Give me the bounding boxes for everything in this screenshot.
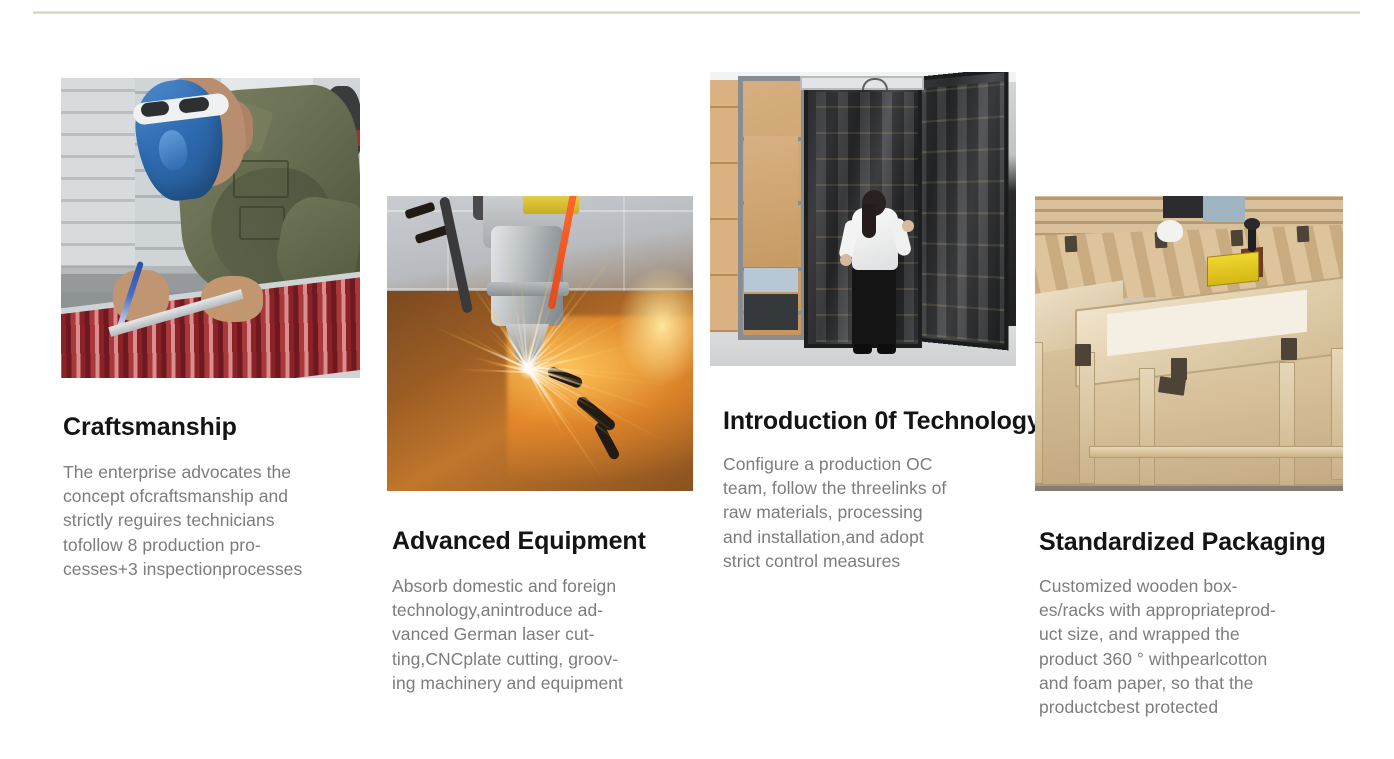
introduction-of-technology-heading: Introduction 0f Technology [723, 409, 1041, 434]
yellow-tool-case [1207, 251, 1259, 286]
worker-ponytail [862, 204, 876, 238]
standardized-packaging-heading: Standardized Packaging [1039, 530, 1326, 555]
worker-shoe-right [877, 344, 896, 354]
craftsmanship-photo [61, 78, 360, 378]
crate-corner-bracket-1 [1075, 344, 1091, 366]
craftsmanship-body-text: The enterprise advocates the concept ofc… [63, 460, 363, 581]
worker-legs [852, 264, 896, 348]
crate-slat-vertical-5 [1035, 342, 1043, 484]
crate-slat-vertical-1 [1079, 352, 1095, 484]
slide-canvas: Craftsmanship The enterprise advocates t… [0, 0, 1394, 759]
crate-bracket-bg-4 [1297, 226, 1310, 243]
top-divider-rule [33, 11, 1360, 14]
crate-corner-bracket-3 [1281, 338, 1297, 360]
advanced-equipment-photo [387, 196, 693, 491]
worker-hand-left [840, 254, 852, 266]
crate-bracket-bg-1 [1065, 236, 1078, 253]
crate-corner-bracket-2 [1171, 358, 1187, 380]
crate-slat-vertical-2 [1139, 368, 1155, 486]
crate-slat-vertical-3 [1279, 362, 1295, 486]
standardized-packaging-photo [1035, 196, 1343, 491]
crate-bracket-bg-3 [1231, 230, 1244, 247]
worker-hand-right [902, 220, 914, 232]
molten-glow-bright [617, 266, 693, 386]
glass-door-right-glazing [918, 81, 1005, 344]
plastic-bag [1157, 220, 1183, 242]
introduction-of-technology-body-text: Configure a production OC team, follow t… [723, 452, 1023, 573]
metal-rack-left [61, 78, 139, 290]
jacket-pocket-lower [239, 206, 285, 240]
blue-label-strip [744, 268, 798, 292]
advanced-equipment-body-text: Absorb domestic and foreign technology,a… [392, 574, 692, 695]
tool-knob [1244, 218, 1260, 230]
background-blue-panel [1203, 196, 1245, 222]
laser-head-body [491, 226, 563, 326]
worker-shoe-left [853, 344, 872, 354]
advanced-equipment-heading: Advanced Equipment [392, 529, 646, 554]
standardized-packaging-body-text: Customized wooden box- es/racks with app… [1039, 574, 1349, 719]
crate-latch [1158, 376, 1186, 395]
jacket-pocket-upper [233, 160, 289, 198]
crate-slat-vertical-4 [1331, 348, 1343, 480]
dark-crate-base [744, 294, 798, 330]
plywood-panel [744, 136, 798, 266]
introduction-of-technology-photo [710, 72, 1016, 366]
crate-slat-horizontal [1089, 446, 1343, 458]
craftsmanship-heading: Craftsmanship [63, 415, 237, 440]
